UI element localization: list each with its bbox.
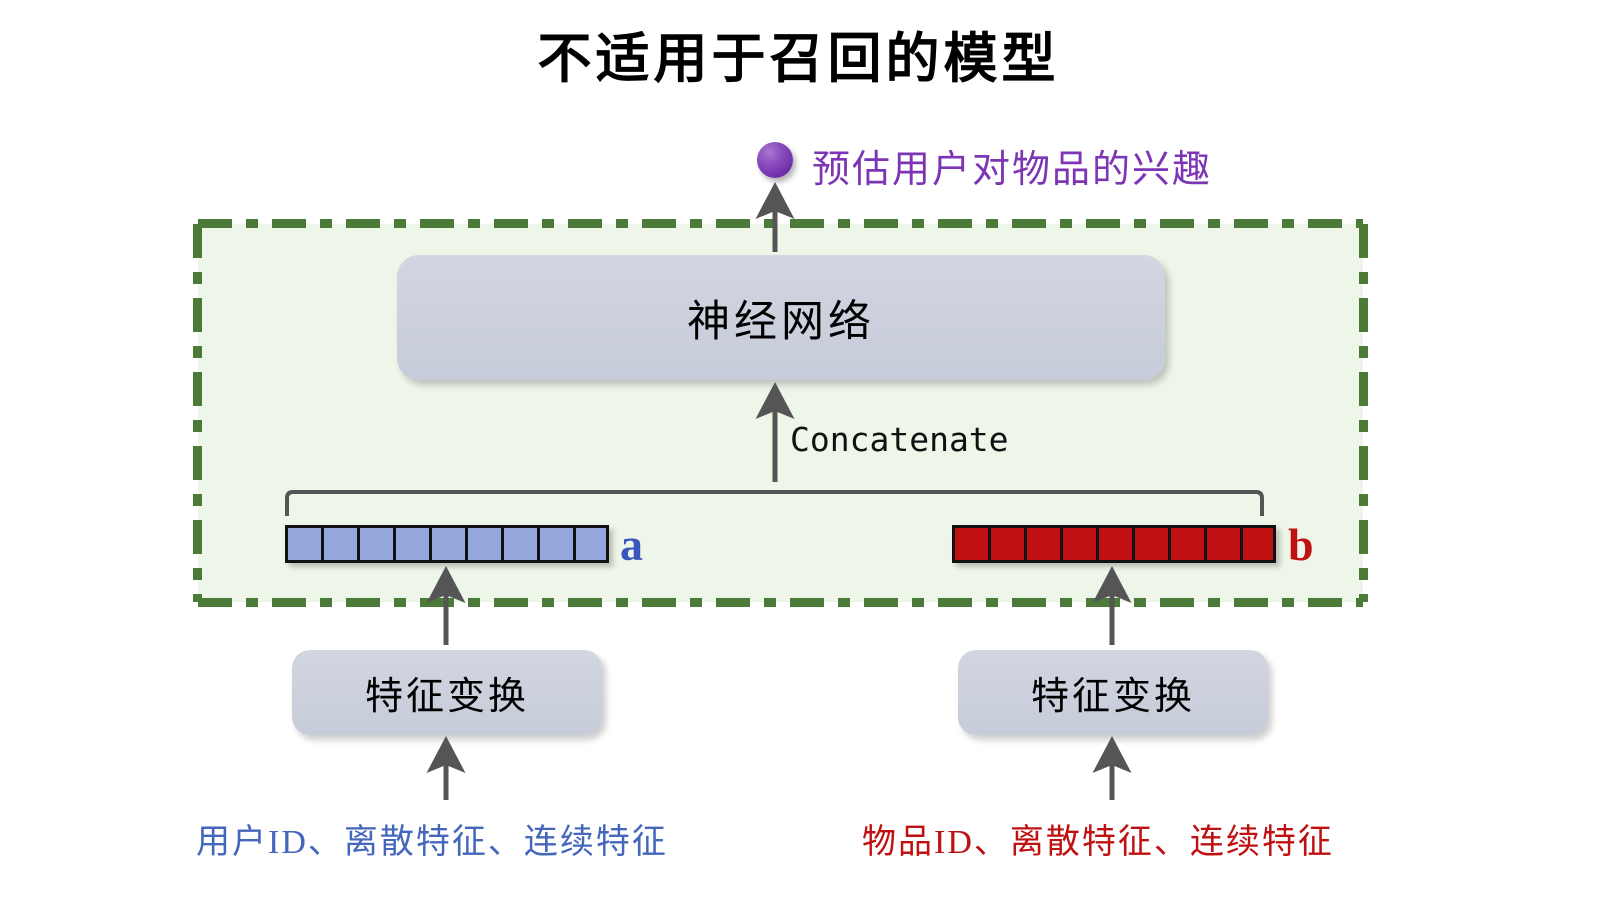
user-embedding-vector: [285, 525, 609, 563]
vector-cell: [1168, 525, 1204, 563]
container-border-right: [1359, 224, 1368, 602]
feature-transform-box-item: 特征变换: [958, 650, 1268, 735]
item-embedding-vector: [952, 525, 1276, 563]
vector-cell: [1204, 525, 1240, 563]
vector-cell: [321, 525, 357, 563]
item-features-label: 物品ID、离散特征、连续特征: [862, 814, 1334, 863]
vector-cell: [952, 525, 988, 563]
feature-transform-box-user: 特征变换: [292, 650, 602, 735]
vector-cell: [537, 525, 573, 563]
neural-network-label: 神经网络: [687, 287, 875, 349]
concatenate-label: Concatenate: [790, 420, 1009, 459]
user-features-label: 用户ID、离散特征、连续特征: [196, 814, 668, 863]
vector-cell: [285, 525, 321, 563]
vector-cell: [573, 525, 609, 563]
vector-cell: [1132, 525, 1168, 563]
container-border-left: [193, 224, 202, 602]
vector-cell: [501, 525, 537, 563]
container-border-top: [198, 219, 1363, 228]
feature-transform-label-user: 特征变换: [365, 665, 529, 720]
vector-cell: [465, 525, 501, 563]
vector-join-bracket: [284, 488, 1265, 518]
vector-cell: [357, 525, 393, 563]
vector-a-label: a: [620, 518, 643, 571]
vector-cell: [1096, 525, 1132, 563]
vector-b-label: b: [1288, 518, 1314, 571]
vector-cell: [393, 525, 429, 563]
vector-cell: [429, 525, 465, 563]
vector-cell: [1024, 525, 1060, 563]
page-title: 不适用于召回的模型: [0, 14, 1597, 93]
output-caption: 预估用户对物品的兴趣: [812, 138, 1212, 193]
vector-cell: [1240, 525, 1276, 563]
vector-cell: [988, 525, 1024, 563]
diagram-canvas: 不适用于召回的模型 预估用户对物品的兴趣 神经网络 Concatenate a: [0, 0, 1597, 900]
vector-cell: [1060, 525, 1096, 563]
purple-sphere-icon: [757, 142, 793, 178]
feature-transform-label-item: 特征变换: [1031, 665, 1195, 720]
neural-network-box: 神经网络: [397, 255, 1165, 380]
container-border-bottom: [198, 598, 1363, 607]
